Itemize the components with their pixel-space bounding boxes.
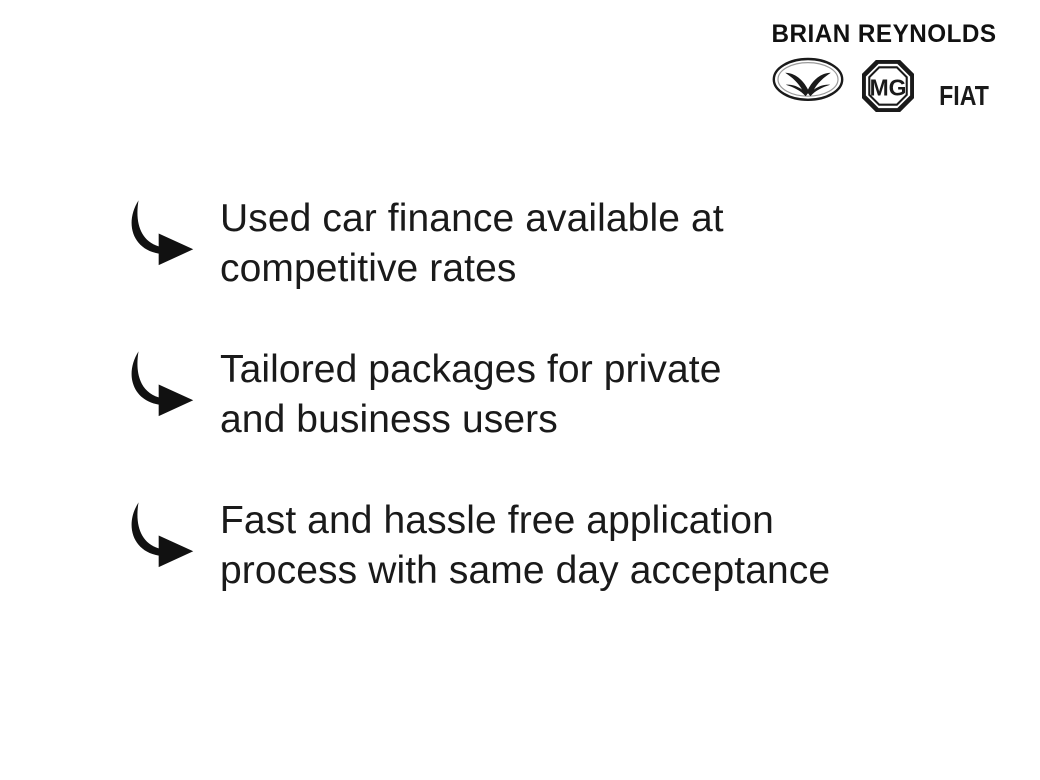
list-item-line: Fast and hassle free application	[220, 496, 830, 546]
list-item: Used car finance available at competitiv…	[126, 192, 986, 293]
dealership-name: BRIAN REYNOLDS	[771, 22, 996, 47]
brand-logo-row: MG FIAT	[772, 60, 996, 114]
svg-text:MG: MG	[870, 74, 907, 100]
list-item-line: process with same day acceptance	[220, 546, 830, 596]
list-item-text: Fast and hassle free application process…	[220, 494, 830, 595]
brand-header: BRIAN REYNOLDS MG FIAT	[768, 22, 1000, 114]
list-item: Tailored packages for private and busine…	[126, 343, 986, 444]
mg-logo: MG	[862, 60, 914, 114]
curved-arrow-icon	[126, 196, 200, 268]
benefits-list: Used car finance available at competitiv…	[126, 192, 986, 595]
curved-arrow-icon	[126, 347, 200, 419]
list-item-line: and business users	[220, 395, 722, 445]
list-item-line: Used car finance available at	[220, 194, 724, 244]
list-item-text: Tailored packages for private and busine…	[220, 343, 722, 444]
fiat-logo: FIAT	[932, 82, 996, 114]
mazda-logo	[772, 56, 844, 114]
list-item-line: Tailored packages for private	[220, 345, 722, 395]
list-item: Fast and hassle free application process…	[126, 494, 986, 595]
curved-arrow-icon	[126, 498, 200, 570]
list-item-line: competitive rates	[220, 244, 724, 294]
list-item-text: Used car finance available at competitiv…	[220, 192, 724, 293]
svg-text:FIAT: FIAT	[939, 82, 989, 110]
